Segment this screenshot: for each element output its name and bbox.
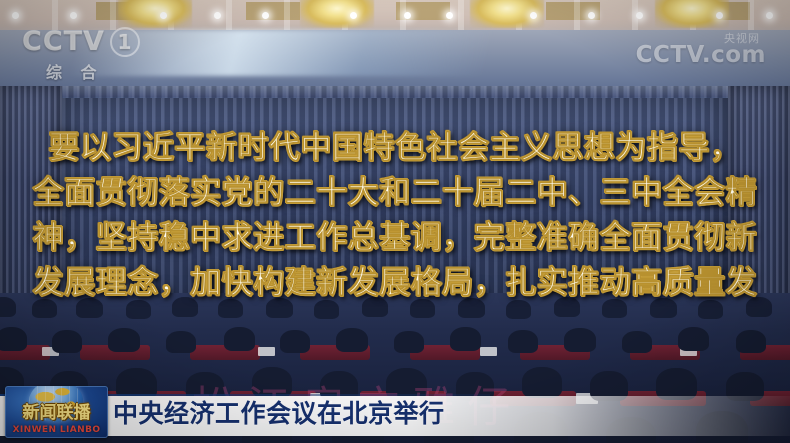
- subtitle-line: 要以习近平新时代中国特色社会主义思想为指导，: [0, 126, 790, 171]
- broadcast-frame: CCTV 1 综 合 央视网 CCTV.com 要以习近平新时代中国特色社会主义…: [0, 0, 790, 443]
- channel-subtitle: 综 合: [46, 59, 172, 83]
- website-watermark-en: CCTV.com: [636, 42, 766, 68]
- chandelier-icon: [118, 0, 192, 28]
- channel-number: 1: [110, 27, 140, 57]
- ceiling-light-icon: [588, 12, 595, 19]
- subtitle-line: 神，坚持稳中求进工作总基调，完整准确全面贯彻新: [0, 216, 790, 261]
- ceiling-light-icon: [214, 12, 221, 19]
- channel-logo-text: CCTV 1: [22, 26, 172, 57]
- ceiling-light-icon: [262, 12, 269, 19]
- ceiling-light-icon: [12, 12, 19, 19]
- chandelier-icon: [300, 0, 374, 28]
- channel-logo: CCTV 1 综 合: [22, 26, 172, 83]
- ceiling-light-icon: [70, 12, 77, 19]
- program-logo-cn: 新闻联播: [5, 398, 108, 423]
- ceiling-light-icon: [766, 12, 773, 19]
- website-watermark: 央视网 CCTV.com: [636, 30, 766, 68]
- headline-text: 中央经济工作会议在北京举行: [113, 394, 445, 430]
- subtitle-block: 要以习近平新时代中国特色社会主义思想为指导， 全面贯彻落实党的二十大和二十届二中…: [0, 126, 790, 306]
- program-logo: 新闻联播 XINWEN LIANBO: [5, 386, 108, 438]
- lower-third: 新闻联播 XINWEN LIANBO 中央经济工作会议在北京举行: [0, 381, 790, 443]
- ceiling-light-icon: [350, 12, 357, 19]
- ceiling-light-icon: [160, 12, 167, 19]
- ceiling-light-icon: [446, 12, 453, 19]
- ceiling-light-icon: [636, 12, 643, 19]
- subtitle-line: 发展理念，加快构建新发展格局，扎实推动高质量发: [0, 261, 790, 306]
- ceiling-light-icon: [530, 12, 537, 19]
- ceiling-light-icon: [404, 12, 411, 19]
- subtitle-line: 全面贯彻落实党的二十大和二十届二中、三中全会精: [0, 171, 790, 216]
- ceiling-light-icon: [716, 12, 723, 19]
- program-logo-en: XINWEN LIANBO: [5, 425, 108, 435]
- channel-name: CCTV: [22, 26, 105, 57]
